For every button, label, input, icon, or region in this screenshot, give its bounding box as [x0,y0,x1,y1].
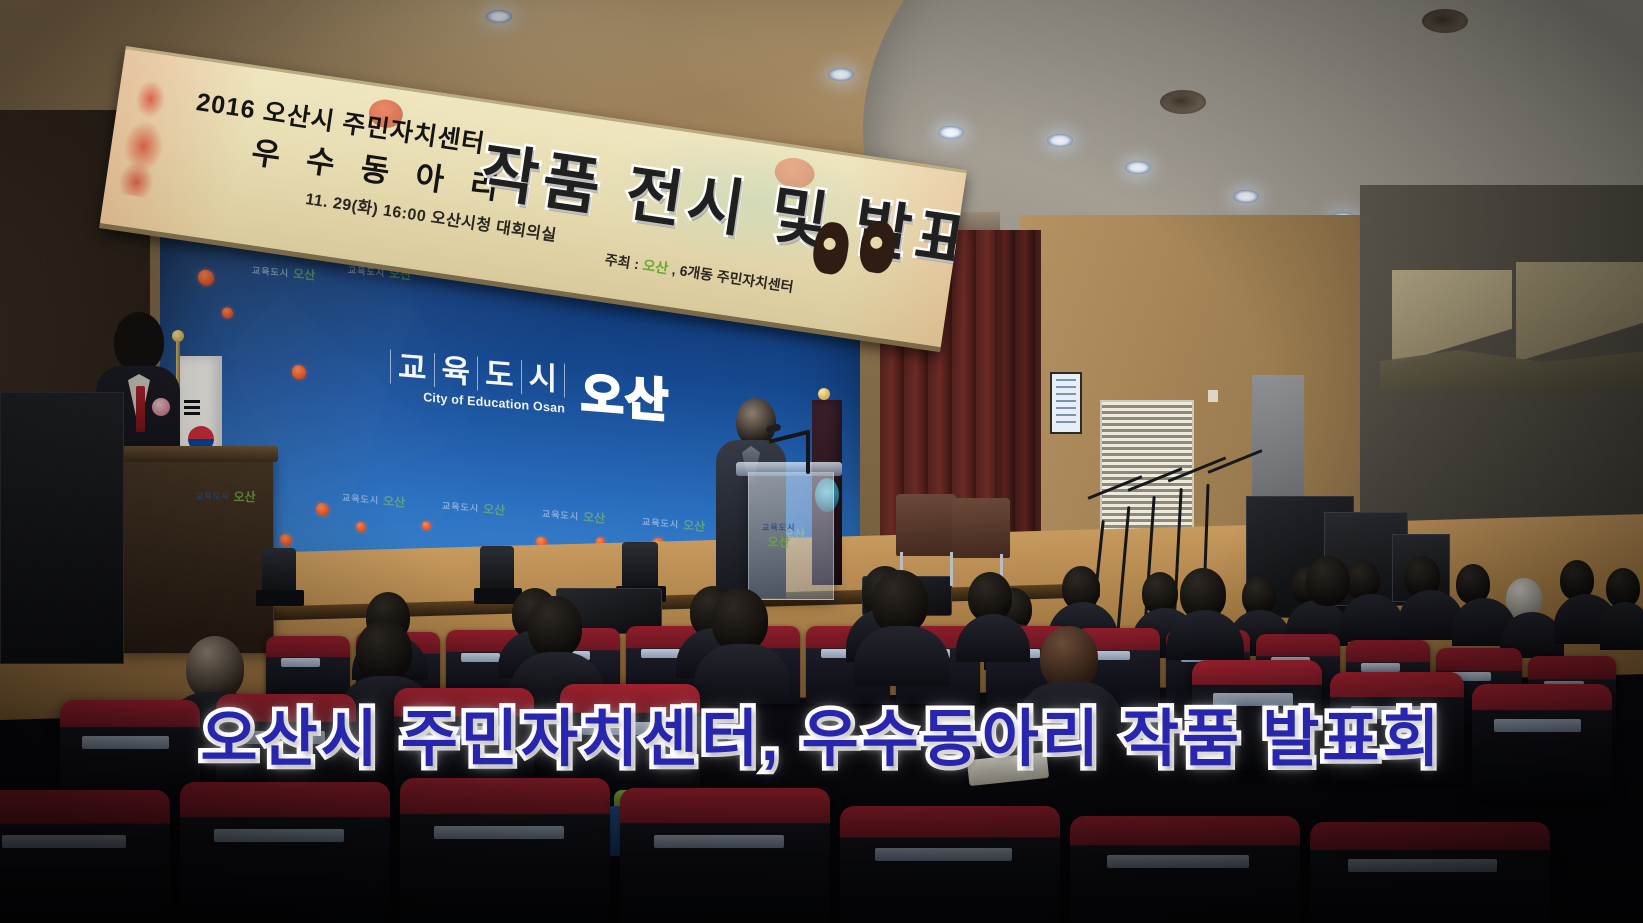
ceiling-vent-icon [1422,9,1468,33]
osan-brand-mark: 오산 [581,358,670,431]
banner-host-suffix: , 6개동 주민자치센터 [671,261,795,295]
corsage [152,398,170,416]
lower-third-caption: 오산시 주민자치센터, 우수동아리 작품 발표회 [0,688,1643,778]
stage-chair[interactable] [896,494,956,556]
logo-char: 육 [434,353,478,390]
flower-decoration [316,503,329,517]
backdrop-watermark: 교육도시오산 [442,497,505,519]
flower-decoration [356,522,366,533]
foreground-seat[interactable] [620,788,830,923]
chair-leg [950,552,953,586]
wall-switch[interactable] [1208,390,1218,402]
podium-center-logo: 교육도시 오산 [762,522,795,550]
framed-notice [1050,372,1082,434]
logo-char: 도 [477,357,521,394]
downlight-icon [1233,190,1259,203]
podium-center-top [736,462,842,476]
loudspeaker-icon [0,392,124,664]
foreground-seat[interactable] [400,778,610,923]
logo-char: 시 [521,360,566,397]
foreground-seat[interactable] [0,790,170,923]
downlight-icon [828,68,854,81]
flower-decoration [292,365,306,380]
flower-decoration [198,269,214,286]
foreground-seat[interactable] [1070,816,1300,923]
flower-decoration [280,534,292,547]
flower-decoration [422,521,431,531]
podium-left-top [116,446,278,462]
foreground-seat[interactable] [180,782,390,923]
downlight-icon [1125,161,1151,174]
banner-host: 주최 : 오산 , 6개동 주민자치센터 [604,249,795,297]
banner-host-logo: 오산 [641,255,669,279]
light-base [256,590,304,606]
foreground-seat[interactable] [840,806,1060,923]
banner-host-prefix: 주최 : [604,251,640,272]
downlight-icon [1047,134,1073,147]
flag-finial-icon [818,388,830,400]
banner-left-decoration [110,74,179,200]
moving-head-light-icon [262,548,296,594]
logo-char: 교 [390,350,434,387]
banner-motif-icon [808,208,919,302]
video-frame: 교 육 도 시 City of Education Osan 오산 교육도시오산… [0,0,1643,923]
stage-chair[interactable] [952,498,1010,558]
podium-left-logo: 교육도시 오산 [196,488,256,505]
ceiling-vent-icon [1160,90,1206,114]
downlight-icon [938,126,964,139]
foreground-seat[interactable] [1310,822,1550,923]
necktie [136,386,145,432]
downlight-icon [486,10,512,23]
podium-left [122,452,274,654]
moving-head-light-icon [480,546,514,592]
microphone-icon [806,430,810,474]
flower-decoration [222,307,233,319]
moving-head-light-icon [622,542,658,590]
